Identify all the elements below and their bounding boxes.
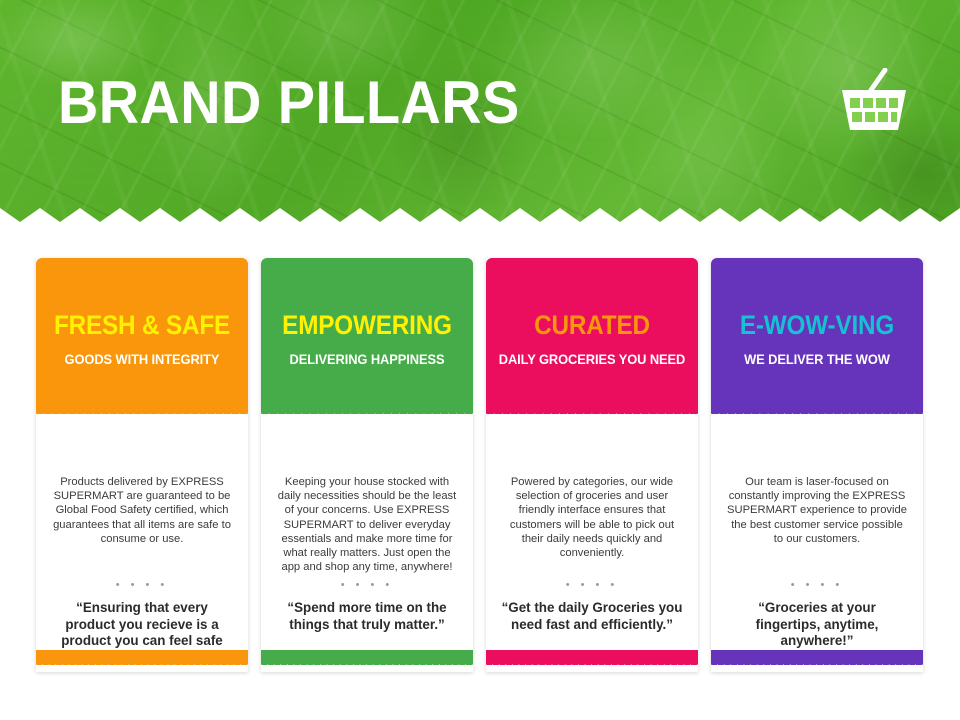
card-dot-divider: • • • • bbox=[261, 580, 473, 591]
card-header-scallop-edge bbox=[486, 413, 698, 424]
card-footer-fill bbox=[36, 650, 248, 665]
card-header-scallop-edge bbox=[36, 413, 248, 424]
card-footer-scallop-edge bbox=[261, 664, 473, 672]
pillar-cards-row: FRESH & SAFE GOODS WITH INTEGRITY Produc… bbox=[0, 222, 960, 720]
card-description: Our team is laser-focused on constantly … bbox=[725, 475, 909, 546]
card-title: EMPOWERING bbox=[272, 310, 463, 340]
page-title: BRAND PILLARS bbox=[58, 72, 520, 134]
pillar-card[interactable]: FRESH & SAFE GOODS WITH INTEGRITY Produc… bbox=[36, 258, 248, 672]
pillar-card[interactable]: E-WOW-VING WE DELIVER THE WOW Our team i… bbox=[711, 258, 923, 672]
card-header: CURATED DAILY GROCERIES YOU NEED bbox=[486, 258, 698, 424]
card-footer-fill bbox=[486, 650, 698, 665]
card-quote: “Groceries at your fingertips, anytime, … bbox=[725, 600, 909, 650]
card-header: EMPOWERING DELIVERING HAPPINESS bbox=[261, 258, 473, 424]
card-header: E-WOW-VING WE DELIVER THE WOW bbox=[711, 258, 923, 424]
card-subtitle: DAILY GROCERIES YOU NEED bbox=[494, 351, 689, 368]
card-quote: “Spend more time on the things that trul… bbox=[275, 600, 459, 633]
pillar-card[interactable]: CURATED DAILY GROCERIES YOU NEED Powered… bbox=[486, 258, 698, 672]
card-header-scallop-edge bbox=[711, 413, 923, 424]
card-title: E-WOW-VING bbox=[722, 310, 913, 340]
card-description: Powered by categories, our wide selectio… bbox=[500, 475, 684, 560]
card-footer-fill bbox=[261, 650, 473, 665]
header-banner: BRAND PILLARS bbox=[0, 0, 960, 222]
card-footer-scallop-edge bbox=[711, 664, 923, 672]
card-header: FRESH & SAFE GOODS WITH INTEGRITY bbox=[36, 258, 248, 424]
card-subtitle: WE DELIVER THE WOW bbox=[719, 351, 914, 368]
card-footer-scallop-edge bbox=[36, 664, 248, 672]
card-description: Products delivered by EXPRESS SUPERMART … bbox=[50, 475, 234, 546]
card-dot-divider: • • • • bbox=[36, 580, 248, 591]
card-footer bbox=[486, 650, 698, 672]
card-footer bbox=[36, 650, 248, 672]
card-description: Keeping your house stocked with daily ne… bbox=[275, 475, 459, 574]
card-header-scallop-edge bbox=[261, 413, 473, 424]
card-dot-divider: • • • • bbox=[486, 580, 698, 591]
card-subtitle: DELIVERING HAPPINESS bbox=[269, 351, 464, 368]
card-subtitle: GOODS WITH INTEGRITY bbox=[44, 351, 239, 368]
card-title: FRESH & SAFE bbox=[47, 310, 238, 340]
pillar-card[interactable]: EMPOWERING DELIVERING HAPPINESS Keeping … bbox=[261, 258, 473, 672]
card-footer-scallop-edge bbox=[486, 664, 698, 672]
card-quote: “Get the daily Groceries you need fast a… bbox=[500, 600, 684, 633]
shopping-basket-icon bbox=[838, 68, 910, 134]
card-footer bbox=[261, 650, 473, 672]
card-dot-divider: • • • • bbox=[711, 580, 923, 591]
card-title: CURATED bbox=[497, 310, 688, 340]
banner-zigzag-edge bbox=[0, 204, 960, 222]
card-footer-fill bbox=[711, 650, 923, 665]
card-footer bbox=[711, 650, 923, 672]
